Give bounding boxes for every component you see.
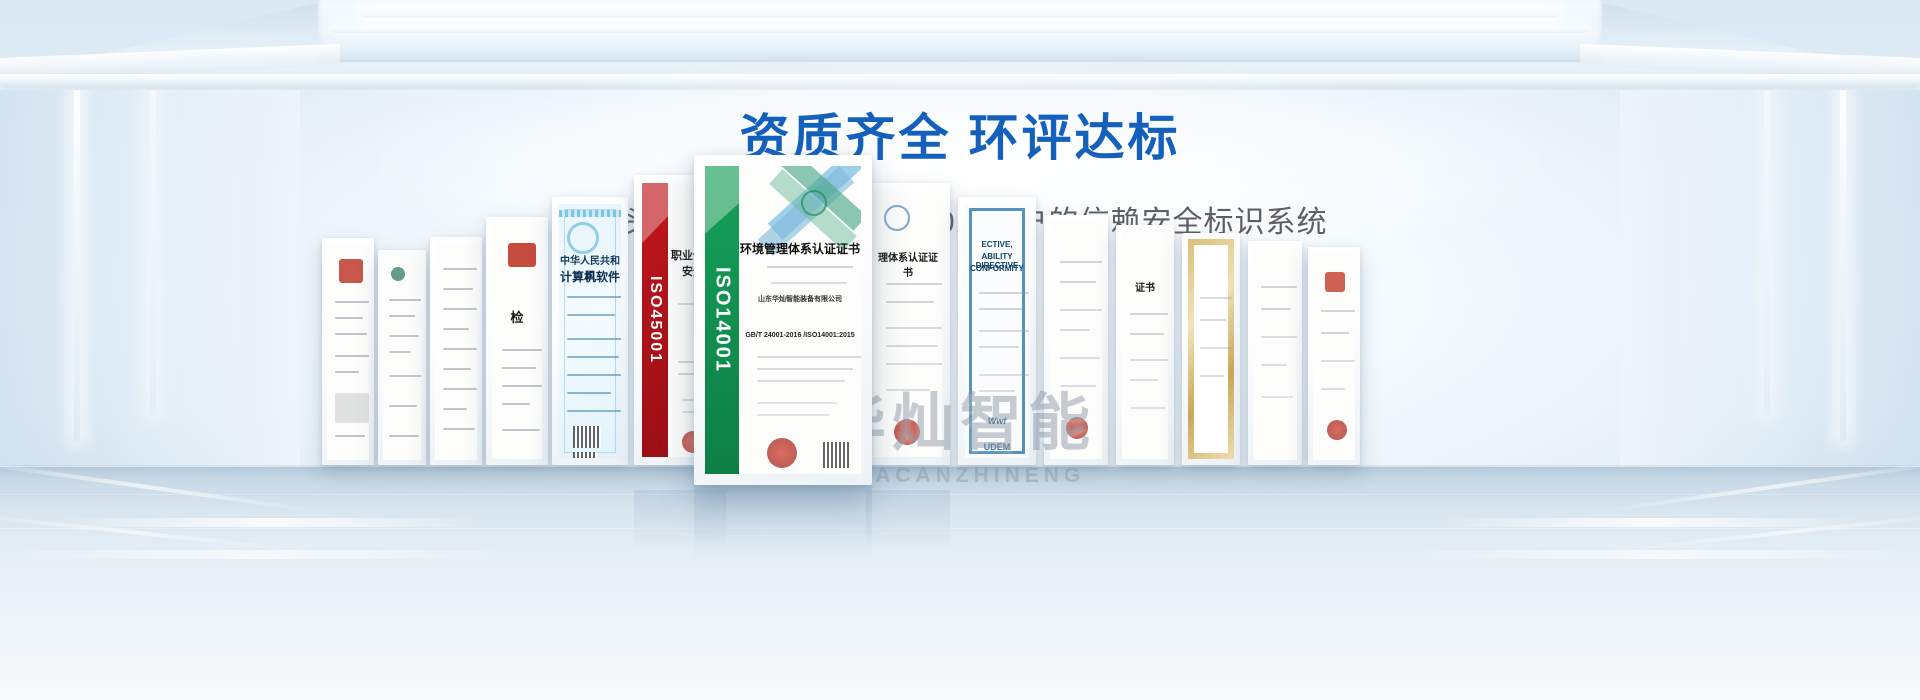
certificate-card[interactable] <box>1182 233 1240 465</box>
featured-cert-standard: GB/T 24001-2016 /ISO14001:2015 <box>739 332 861 339</box>
certificate-card[interactable]: 证书 <box>1116 225 1174 465</box>
certificate-card[interactable] <box>1308 247 1360 465</box>
featured-cert-title: 环境管理体系认证证书 <box>739 240 861 257</box>
certificate-card[interactable] <box>1044 215 1108 465</box>
certificate-card[interactable] <box>1248 241 1302 465</box>
cert-reflection <box>866 490 950 550</box>
featured-cert-company: 山东华灿智能装备有限公司 <box>739 294 861 304</box>
certificate-card[interactable] <box>430 237 482 465</box>
certificate-card[interactable]: 中华人民共和国 计算机软件 <box>552 197 628 465</box>
banner-stage: 资质齐全 环评达标 源头实力工厂、获得超100家客户的信赖安全标识系统 <box>0 0 1920 700</box>
floor-reflection <box>0 465 1920 560</box>
cert-reflection <box>634 490 726 550</box>
certificate-card[interactable]: 检 <box>486 217 548 465</box>
certificate-card[interactable]: 理体系认证证书 <box>866 183 950 465</box>
certificate-card-featured[interactable]: ISO14001 环境管理体系认证证书 山东华灿智能装备有限公司 GB/T 24… <box>694 155 872 485</box>
certificate-card[interactable] <box>322 238 374 465</box>
certificate-card[interactable] <box>378 250 426 465</box>
certificate-wall: 检 中华人民共和国 计算机软件 <box>0 0 1920 700</box>
certificate-card[interactable]: ECTIVE, ABILITY DIRECTIVE CONFORMITY Wwf… <box>958 197 1036 465</box>
